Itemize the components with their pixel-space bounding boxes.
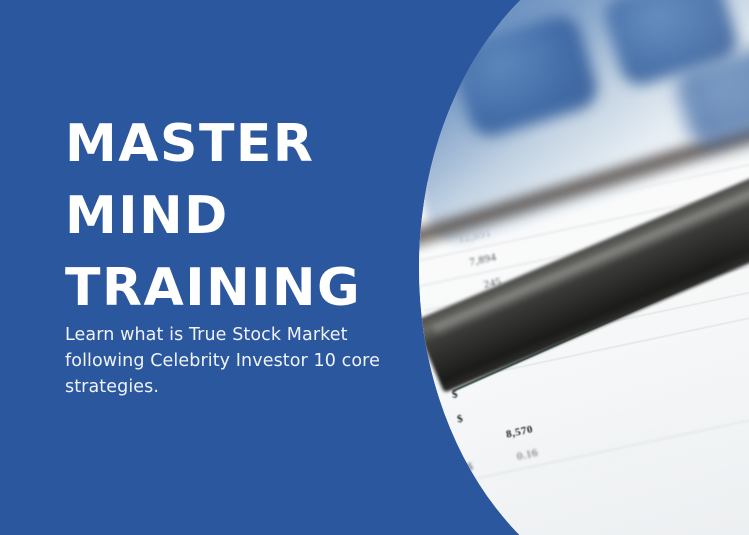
hero-photo: 11,706 12,891 11,706 [419,0,749,535]
amount-value: 0.16 [484,447,539,470]
headline-line-2: MIND [65,180,361,252]
headline-line-3: TRAINING [65,252,361,324]
headline-line-1: MASTER [65,108,361,180]
hero-photo-panel: 11,706 12,891 11,706 [419,0,749,535]
page-title: MASTER MIND TRAINING [65,108,361,324]
subtitle-text: Learn what is True Stock Market followin… [65,322,420,400]
promo-banner: 11,706 12,891 11,706 [0,0,749,535]
currency-symbol: $ [466,460,478,474]
text-content: MASTER MIND TRAINING Learn what is True … [65,0,465,535]
